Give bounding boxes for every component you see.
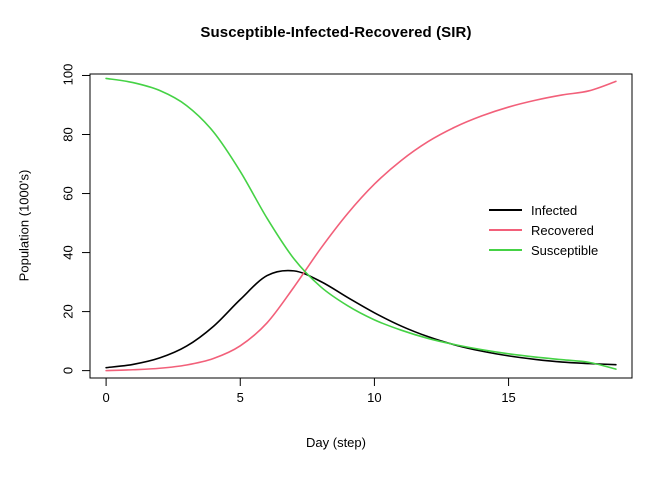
legend-item-recovered: Recovered <box>489 220 598 240</box>
chart-figure: Susceptible-Infected-Recovered (SIR) 051… <box>0 0 672 480</box>
legend-label: Infected <box>531 203 577 218</box>
legend-key-line-icon <box>489 249 522 251</box>
x-tick-label: 0 <box>86 390 126 405</box>
y-tick-label: 60 <box>61 173 76 213</box>
y-tick-label: 80 <box>61 114 76 154</box>
legend-key-line-icon <box>489 209 522 211</box>
y-tick-label: 20 <box>61 291 76 331</box>
x-tick-label: 5 <box>220 390 260 405</box>
y-tick-label: 0 <box>61 350 76 390</box>
legend-item-infected: Infected <box>489 200 598 220</box>
x-tick-label: 10 <box>354 390 394 405</box>
x-axis-ticks <box>106 378 508 386</box>
x-axis-label: Day (step) <box>0 435 672 450</box>
legend-label: Susceptible <box>531 243 598 258</box>
legend-item-susceptible: Susceptible <box>489 240 598 260</box>
y-axis-ticks <box>82 75 90 370</box>
series-line-infected <box>106 271 616 368</box>
y-tick-label: 40 <box>61 232 76 272</box>
legend-label: Recovered <box>531 223 594 238</box>
legend-key-line-icon <box>489 229 522 231</box>
y-tick-label: 100 <box>61 55 76 95</box>
x-tick-label: 15 <box>489 390 529 405</box>
chart-legend: InfectedRecoveredSusceptible <box>489 200 598 260</box>
y-axis-label: Population (1000's) <box>17 126 32 326</box>
